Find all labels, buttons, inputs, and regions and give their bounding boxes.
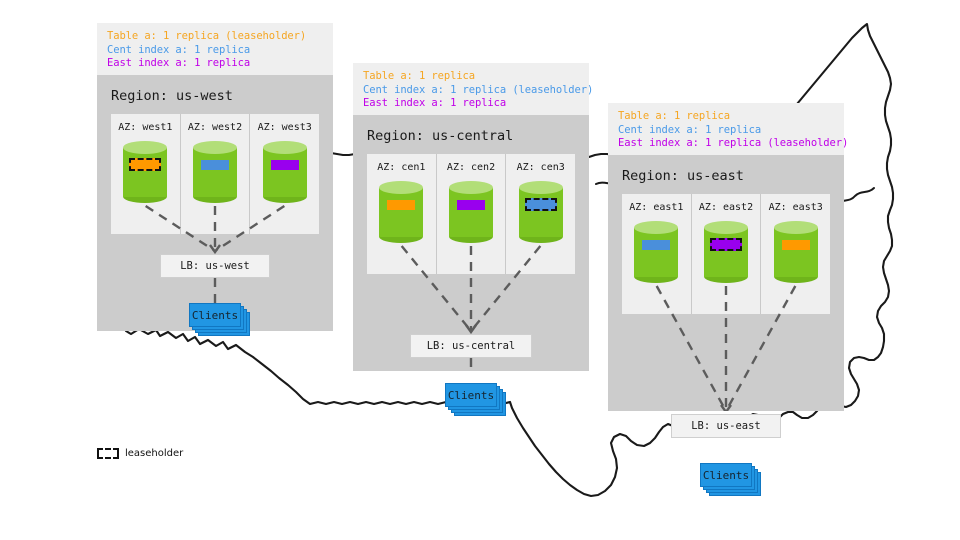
az-label: AZ: west1 bbox=[118, 122, 172, 133]
load-balancer-label: LB: us-east bbox=[691, 420, 761, 432]
cylinder-top bbox=[704, 221, 748, 234]
region-panel-us-east: Table a: 1 replicaCent index a: 1 replic… bbox=[608, 103, 844, 411]
az-label: AZ: cen3 bbox=[517, 162, 565, 173]
replica-legend-line-cent_index_a: Cent index a: 1 replica bbox=[107, 44, 323, 58]
az-cell-east2[interactable]: AZ: east2 bbox=[692, 194, 762, 314]
cylinder-top bbox=[123, 141, 167, 154]
az-cell-west3[interactable]: AZ: west3 bbox=[250, 114, 319, 234]
load-balancer-us-west[interactable]: LB: us-west bbox=[160, 254, 270, 278]
cylinder-body bbox=[449, 188, 493, 237]
az-cell-cen2[interactable]: AZ: cen2 bbox=[437, 154, 507, 274]
az-label: AZ: west2 bbox=[188, 122, 242, 133]
cylinder-body bbox=[123, 148, 167, 197]
clients-stack-us-west[interactable]: Clients bbox=[189, 303, 251, 337]
cylinder-top bbox=[449, 181, 493, 194]
cylinder-body bbox=[193, 148, 237, 197]
region-body-us-east: Region: us-eastAZ: east1AZ: east2AZ: eas… bbox=[608, 155, 844, 411]
database-node-icon[interactable] bbox=[263, 141, 307, 203]
az-cell-cen1[interactable]: AZ: cen1 bbox=[367, 154, 437, 274]
replica-block-blue-leaseholder[interactable] bbox=[525, 198, 557, 211]
cylinder-top bbox=[193, 141, 237, 154]
replica-block-blue[interactable] bbox=[642, 240, 670, 250]
clients-box[interactable]: Clients bbox=[189, 303, 241, 327]
replica-legend-line-table_a: Table a: 1 replica (leaseholder) bbox=[107, 30, 323, 44]
clients-stack-us-east[interactable]: Clients bbox=[700, 463, 762, 497]
replica-block-orange[interactable] bbox=[387, 200, 415, 210]
az-cell-east3[interactable]: AZ: east3 bbox=[761, 194, 830, 314]
az-row-us-west: AZ: west1AZ: west2AZ: west3 bbox=[111, 114, 319, 234]
az-label: AZ: cen1 bbox=[377, 162, 425, 173]
replica-block-purple-leaseholder[interactable] bbox=[710, 238, 742, 251]
region-title-us-central: Region: us-central bbox=[353, 115, 589, 144]
cylinder-body bbox=[519, 188, 563, 237]
replica-legend-us-central: Table a: 1 replicaCent index a: 1 replic… bbox=[353, 63, 589, 115]
load-balancer-us-central[interactable]: LB: us-central bbox=[410, 334, 532, 358]
database-node-icon[interactable] bbox=[379, 181, 423, 243]
clients-label: Clients bbox=[192, 309, 238, 322]
replica-block-purple[interactable] bbox=[457, 200, 485, 210]
database-node-icon[interactable] bbox=[449, 181, 493, 243]
region-title-us-west: Region: us-west bbox=[97, 75, 333, 104]
region-body-us-central: Region: us-centralAZ: cen1AZ: cen2AZ: ce… bbox=[353, 115, 589, 371]
replica-block-purple[interactable] bbox=[271, 160, 299, 170]
clients-box[interactable]: Clients bbox=[700, 463, 752, 487]
replica-legend-line-east_index_a: East index a: 1 replica bbox=[107, 57, 323, 71]
replica-legend-line-east_index_a: East index a: 1 replica (leaseholder) bbox=[618, 137, 834, 151]
cylinder-body bbox=[263, 148, 307, 197]
az-cell-west1[interactable]: AZ: west1 bbox=[111, 114, 181, 234]
replica-block-orange[interactable] bbox=[782, 240, 810, 250]
diagram-canvas: Table a: 1 replica (leaseholder)Cent ind… bbox=[0, 0, 960, 540]
database-node-icon[interactable] bbox=[519, 181, 563, 243]
region-body-us-west: Region: us-westAZ: west1AZ: west2AZ: wes… bbox=[97, 75, 333, 331]
dashed-rect-icon bbox=[97, 448, 119, 459]
az-row-us-east: AZ: east1AZ: east2AZ: east3 bbox=[622, 194, 830, 314]
cylinder-top bbox=[379, 181, 423, 194]
replica-legend-line-east_index_a: East index a: 1 replica bbox=[363, 97, 579, 111]
region-panel-us-central: Table a: 1 replicaCent index a: 1 replic… bbox=[353, 63, 589, 371]
clients-label: Clients bbox=[448, 389, 494, 402]
az-label: AZ: east3 bbox=[769, 202, 823, 213]
cylinder-body bbox=[774, 228, 818, 277]
database-node-icon[interactable] bbox=[123, 141, 167, 203]
cylinder-top bbox=[634, 221, 678, 234]
database-node-icon[interactable] bbox=[774, 221, 818, 283]
az-row-us-central: AZ: cen1AZ: cen2AZ: cen3 bbox=[367, 154, 575, 274]
load-balancer-label: LB: us-west bbox=[180, 260, 250, 272]
replica-legend-line-cent_index_a: Cent index a: 1 replica bbox=[618, 124, 834, 138]
replica-legend-line-table_a: Table a: 1 replica bbox=[618, 110, 834, 124]
cylinder-top bbox=[774, 221, 818, 234]
load-balancer-us-east[interactable]: LB: us-east bbox=[671, 414, 781, 438]
legend-leaseholder: leaseholder bbox=[97, 448, 183, 459]
az-cell-west2[interactable]: AZ: west2 bbox=[181, 114, 251, 234]
replica-block-orange-leaseholder[interactable] bbox=[129, 158, 161, 171]
cylinder-top bbox=[519, 181, 563, 194]
clients-label: Clients bbox=[703, 469, 749, 482]
load-balancer-label: LB: us-central bbox=[427, 340, 516, 352]
az-cell-cen3[interactable]: AZ: cen3 bbox=[506, 154, 575, 274]
legend-label: leaseholder bbox=[125, 448, 183, 459]
cylinder-top bbox=[263, 141, 307, 154]
az-label: AZ: east2 bbox=[699, 202, 753, 213]
replica-legend-line-cent_index_a: Cent index a: 1 replica (leaseholder) bbox=[363, 84, 579, 98]
replica-block-blue[interactable] bbox=[201, 160, 229, 170]
database-node-icon[interactable] bbox=[704, 221, 748, 283]
replica-legend-us-east: Table a: 1 replicaCent index a: 1 replic… bbox=[608, 103, 844, 155]
clients-stack-us-central[interactable]: Clients bbox=[445, 383, 507, 417]
database-node-icon[interactable] bbox=[193, 141, 237, 203]
replica-legend-line-table_a: Table a: 1 replica bbox=[363, 70, 579, 84]
clients-box[interactable]: Clients bbox=[445, 383, 497, 407]
az-label: AZ: east1 bbox=[629, 202, 683, 213]
database-node-icon[interactable] bbox=[634, 221, 678, 283]
cylinder-body bbox=[634, 228, 678, 277]
cylinder-body bbox=[379, 188, 423, 237]
region-title-us-east: Region: us-east bbox=[608, 155, 844, 184]
az-cell-east1[interactable]: AZ: east1 bbox=[622, 194, 692, 314]
az-label: AZ: cen2 bbox=[447, 162, 495, 173]
replica-legend-us-west: Table a: 1 replica (leaseholder)Cent ind… bbox=[97, 23, 333, 75]
az-label: AZ: west3 bbox=[258, 122, 312, 133]
region-panel-us-west: Table a: 1 replica (leaseholder)Cent ind… bbox=[97, 23, 333, 331]
cylinder-body bbox=[704, 228, 748, 277]
